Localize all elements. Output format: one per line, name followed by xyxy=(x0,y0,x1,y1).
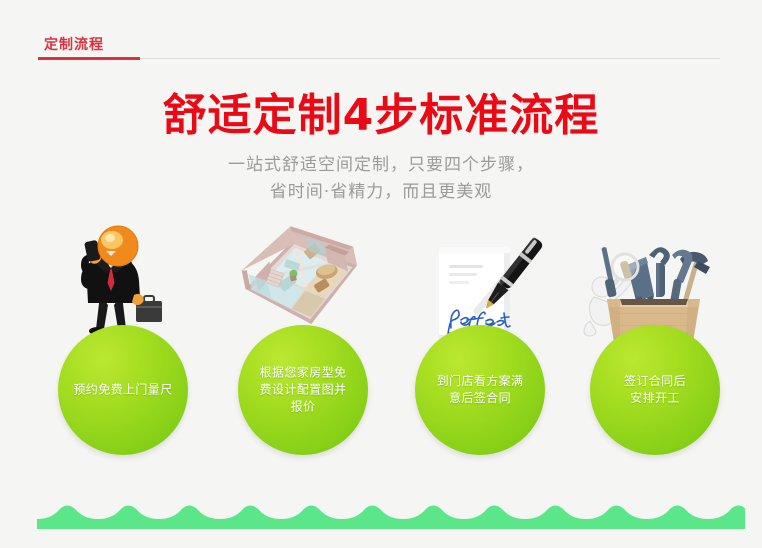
step-4-label: 签订合同后 安排开工 xyxy=(598,373,712,407)
page-subtitle-line-2: 省时间·省精力，而且更美观 xyxy=(0,179,762,206)
header-divider-line xyxy=(38,58,720,59)
section-header-title: 定制流程 xyxy=(44,34,104,54)
step-4-circle[interactable]: 签订合同后 安排开工 xyxy=(590,325,720,455)
page-title: 舒适定制4步标准流程 xyxy=(0,92,762,140)
decorative-wave-band xyxy=(37,505,745,529)
header-divider-accent xyxy=(38,57,140,60)
section-header: 定制流程 xyxy=(0,30,762,62)
page-subtitle: 一站式舒适空间定制，只要四个步骤， 省时间·省精力，而且更美观 xyxy=(0,152,762,206)
promo-page: 定制流程 舒适定制4步标准流程 一站式舒适空间定制，只要四个步骤， 省时间·省精… xyxy=(0,0,762,548)
process-step-2[interactable]: 根据您家房型免 费设计配置图并 报价 xyxy=(228,225,378,465)
process-step-4[interactable]: 签订合同后 安排开工 xyxy=(580,225,730,465)
step-2-circle[interactable]: 根据您家房型免 费设计配置图并 报价 xyxy=(238,325,368,455)
process-steps: 预约免费上门量尺 xyxy=(0,225,762,465)
step-2-label: 根据您家房型免 费设计配置图并 报价 xyxy=(246,365,360,416)
process-step-3[interactable]: 到门店看方案满 意后签合同 xyxy=(405,225,555,465)
step-1-label: 预约免费上门量尺 xyxy=(66,382,180,399)
step-1-circle[interactable]: 预约免费上门量尺 xyxy=(58,325,188,455)
step-3-circle[interactable]: 到门店看方案满 意后签合同 xyxy=(415,325,545,455)
process-step-1[interactable]: 预约免费上门量尺 xyxy=(48,225,198,465)
page-subtitle-line-1: 一站式舒适空间定制，只要四个步骤， xyxy=(0,152,762,179)
step-3-label: 到门店看方案满 意后签合同 xyxy=(423,373,537,407)
